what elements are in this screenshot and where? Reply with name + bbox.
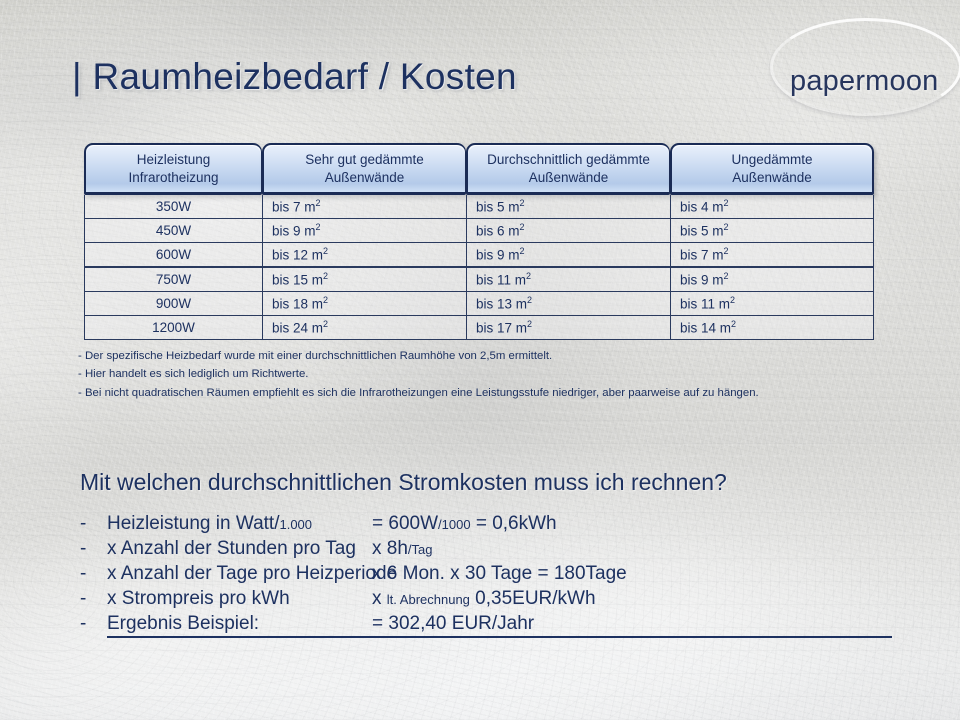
cell-power: 450W [84,219,262,243]
header-line-2: Außenwände [529,170,609,185]
column-header-durchschnittlich-gedaemmte: Durchschnittlich gedämmte Außenwände [466,143,670,195]
header-line-2: Außenwände [325,170,405,185]
table-body: 350Wbis 7 m2bis 5 m2bis 4 m2450Wbis 9 m2… [84,195,874,340]
cell-value: bis 11 m [476,273,526,288]
cell-well-insulated: bis 15 m2 [262,268,466,292]
cell-average-insulated: bis 5 m2 [466,195,670,219]
cell-power: 350W [84,195,262,219]
list-dash: - [80,614,107,633]
calc-right-small: lt. Abrechnung [387,592,470,607]
calc-right-term: = 600W/1000 = 0,6kWh [372,513,892,535]
cell-value: bis 17 m [476,321,527,336]
logo-wordmark: papermoon [790,65,939,98]
cell-power: 900W [84,292,262,316]
cell-value: bis 18 m [272,297,323,312]
calc-right-a: = 302,40 EUR/Jahr [372,613,534,634]
cell-power: 1200W [84,316,262,340]
cell-value: bis 15 m [272,273,323,288]
superscript-two: 2 [724,198,729,208]
calc-right-term: x 8h/Tag [372,538,892,560]
list-dash: - [80,514,107,533]
cell-value: bis 12 m [272,248,323,263]
calc-left-main: x Strompreis pro kWh [107,588,290,609]
superscript-two: 2 [730,295,735,305]
table-header-row: Heizleistung Infrarotheizung Sehr gut ge… [84,143,874,195]
cell-well-insulated: bis 24 m2 [262,316,466,340]
cell-uninsulated: bis 11 m2 [670,292,874,316]
cell-value: bis 24 m [272,321,323,336]
superscript-two: 2 [520,222,525,232]
calc-right-term: x 6 Mon. x 30 Tage = 180Tage [372,563,892,585]
cell-value: bis 4 m [680,200,724,215]
calc-left-main: x Anzahl der Stunden pro Tag [107,538,356,559]
calc-right-a: = 600W [372,513,438,534]
table-row: 600Wbis 12 m2bis 9 m2bis 7 m2 [84,243,874,268]
superscript-two: 2 [323,295,328,305]
header-line-1: Ungedämmte [731,152,812,167]
footnote-item: - Hier handelt es sich lediglich um Rich… [78,365,878,383]
header-line-2: Außenwände [732,170,812,185]
calc-left-main: x Anzahl der Tage pro Heizperiode [107,563,397,584]
superscript-two: 2 [527,295,532,305]
calc-right-small: /1000 [438,517,471,532]
calc-row: -Heizleistung in Watt/1.000= 600W/1000 =… [80,513,892,538]
cell-uninsulated: bis 7 m2 [670,243,874,268]
cell-well-insulated: bis 7 m2 [262,195,466,219]
cell-power: 750W [84,268,262,292]
calc-left-term: Heizleistung in Watt/1.000 [107,513,372,535]
heating-requirement-table: Heizleistung Infrarotheizung Sehr gut ge… [84,143,874,340]
papermoon-logo: papermoon [772,38,944,114]
calc-left-term: x Anzahl der Stunden pro Tag [107,538,372,560]
superscript-two: 2 [724,222,729,232]
superscript-two: 2 [520,198,525,208]
cell-uninsulated: bis 5 m2 [670,219,874,243]
page-title: | Raumheizbedarf / Kosten [72,56,517,98]
cell-value: bis 7 m [680,248,724,263]
calc-left-term: x Strompreis pro kWh [107,588,372,610]
cell-power: 600W [84,243,262,268]
superscript-two: 2 [724,271,729,281]
calc-right-term: x lt. Abrechnung 0,35EUR/kWh [372,588,892,610]
cell-uninsulated: bis 4 m2 [670,195,874,219]
section-question: Mit welchen durchschnittlichen Stromkost… [80,469,727,496]
calc-left-term: Ergebnis Beispiel: [107,613,372,638]
column-header-heizleistung: Heizleistung Infrarotheizung [84,143,262,195]
cell-value: bis 11 m [680,297,730,312]
calc-left-main: Ergebnis Beispiel: [107,613,259,634]
cell-average-insulated: bis 6 m2 [466,219,670,243]
cell-value: bis 9 m [476,248,520,263]
table-row: 350Wbis 7 m2bis 5 m2bis 4 m2 [84,195,874,219]
calc-row: -x Anzahl der Tage pro Heizperiodex 6 Mo… [80,563,892,588]
calc-right-a: x 6 Mon. x 30 Tage = 180Tage [372,563,627,584]
cell-value: bis 7 m [272,200,316,215]
cell-well-insulated: bis 9 m2 [262,219,466,243]
cost-calculation-list: -Heizleistung in Watt/1.000= 600W/1000 =… [80,513,892,638]
superscript-two: 2 [316,222,321,232]
superscript-two: 2 [520,246,525,256]
superscript-two: 2 [526,271,531,281]
cell-average-insulated: bis 11 m2 [466,268,670,292]
cell-well-insulated: bis 12 m2 [262,243,466,268]
cell-value: bis 13 m [476,297,527,312]
cell-average-insulated: bis 17 m2 [466,316,670,340]
cell-value: bis 5 m [680,224,724,239]
footnote-item: - Bei nicht quadratischen Räumen empfieh… [78,384,878,402]
footnote-list: - Der spezifische Heizbedarf wurde mit e… [78,347,878,402]
cell-uninsulated: bis 14 m2 [670,316,874,340]
list-dash: - [80,564,107,583]
superscript-two: 2 [527,319,532,329]
column-header-ungedaemmte: Ungedämmte Außenwände [670,143,874,195]
header-line-1: Durchschnittlich gedämmte [487,152,650,167]
calc-row: -x Anzahl der Stunden pro Tagx 8h/Tag [80,538,892,563]
cell-value: bis 9 m [272,224,316,239]
footnote-item: - Der spezifische Heizbedarf wurde mit e… [78,347,878,365]
cell-well-insulated: bis 18 m2 [262,292,466,316]
calc-left-small: 1.000 [279,517,312,532]
table: Heizleistung Infrarotheizung Sehr gut ge… [84,143,874,340]
calc-left-term: x Anzahl der Tage pro Heizperiode [107,563,372,585]
table-row: 750Wbis 15 m2bis 11 m2bis 9 m2 [84,268,874,292]
column-header-sehr-gut-gedaemmte: Sehr gut gedämmte Außenwände [262,143,466,195]
cell-uninsulated: bis 9 m2 [670,268,874,292]
calc-right-a: x 8h [372,538,408,559]
cell-average-insulated: bis 13 m2 [466,292,670,316]
header-line-2: Infrarotheizung [128,170,218,185]
slide-canvas: | Raumheizbedarf / Kosten papermoon Heiz… [0,0,960,720]
superscript-two: 2 [731,319,736,329]
calc-right-b: 0,35EUR/kWh [470,588,596,609]
table-row: 450Wbis 9 m2bis 6 m2bis 5 m2 [84,219,874,243]
list-dash: - [80,589,107,608]
calc-right-small: /Tag [408,542,433,557]
list-dash: - [80,539,107,558]
superscript-two: 2 [323,319,328,329]
calc-right-term: = 302,40 EUR/Jahr [372,613,892,638]
cell-value: bis 6 m [476,224,520,239]
header-line-1: Sehr gut gedämmte [305,152,424,167]
superscript-two: 2 [323,271,328,281]
cell-value: bis 5 m [476,200,520,215]
cell-value: bis 14 m [680,321,731,336]
cell-average-insulated: bis 9 m2 [466,243,670,268]
superscript-two: 2 [323,246,328,256]
calc-row: -x Strompreis pro kWhx lt. Abrechnung 0,… [80,588,892,613]
calc-row: -Ergebnis Beispiel:= 302,40 EUR/Jahr [80,613,892,638]
calc-right-a: x [372,588,387,609]
superscript-two: 2 [724,246,729,256]
table-row: 900Wbis 18 m2bis 13 m2bis 11 m2 [84,292,874,316]
header-line-1: Heizleistung [137,152,211,167]
calc-left-main: Heizleistung in Watt/ [107,513,279,534]
calc-right-b: = 0,6kWh [471,513,557,534]
cell-value: bis 9 m [680,273,724,288]
table-row: 1200Wbis 24 m2bis 17 m2bis 14 m2 [84,316,874,340]
superscript-two: 2 [316,198,321,208]
